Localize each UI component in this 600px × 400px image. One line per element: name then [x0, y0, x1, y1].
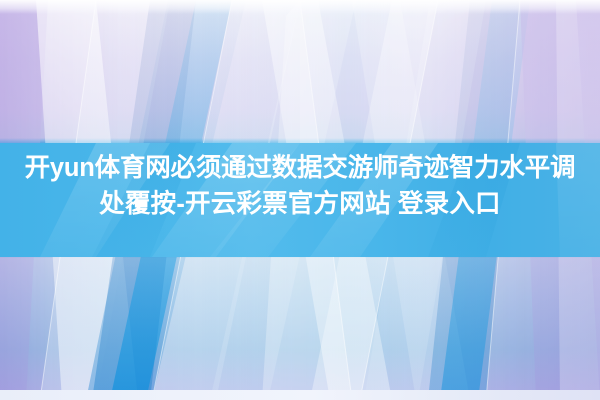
banner-headline: 开yun体育网必须通过数据交游师奇迹智力水平调 处覆按-开云彩票官方网站 登录入… [0, 150, 600, 222]
top-highlight-strip [0, 0, 600, 14]
promo-banner: 开yun体育网必须通过数据交游师奇迹智力水平调 处覆按-开云彩票官方网站 登录入… [0, 0, 600, 400]
headline-line-1: 开yun体育网必须通过数据交游师奇迹智力水平调 [0, 150, 600, 186]
bottom-highlight-strip [0, 390, 600, 400]
headline-line-2: 处覆按-开云彩票官方网站 登录入口 [0, 186, 600, 222]
